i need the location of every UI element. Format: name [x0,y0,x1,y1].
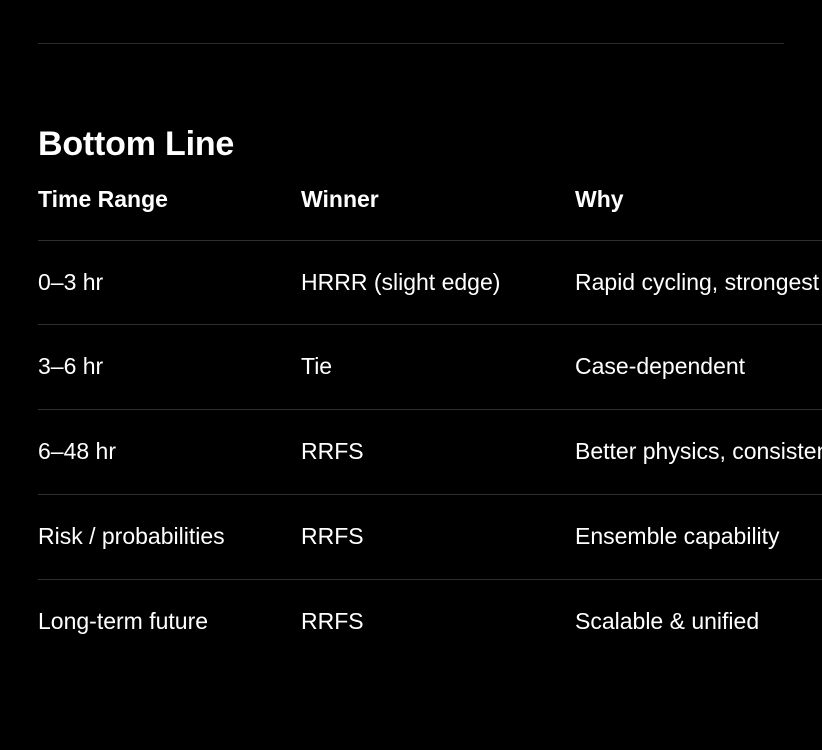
page-title: Bottom Line [38,126,234,163]
cell-winner: Tie [301,325,575,410]
column-header-why: Why [575,185,822,240]
table-row: Risk / probabilities RRFS Ensemble capab… [38,494,822,579]
cell-why: Case-dependent [575,325,822,410]
table-row: 6–48 hr RRFS Better physics, consistency [38,410,822,495]
table-body: 0–3 hr HRRR (slight edge) Rapid cycling,… [38,240,822,663]
cell-winner: HRRR (slight edge) [301,240,575,325]
table-row: 0–3 hr HRRR (slight edge) Rapid cycling,… [38,240,822,325]
cell-time-range: 0–3 hr [38,240,301,325]
table-header: Time Range Winner Why [38,185,822,240]
cell-time-range: Long-term future [38,579,301,663]
cell-why: Rapid cycling, strongest nowcasting [575,240,822,325]
table-header-row: Time Range Winner Why [38,185,822,240]
cell-winner: RRFS [301,410,575,495]
column-header-winner: Winner [301,185,575,240]
bottom-line-table: Time Range Winner Why 0–3 hr HRRR (sligh… [38,185,822,663]
cell-why: Better physics, consistency [575,410,822,495]
column-header-time-range: Time Range [38,185,301,240]
cell-time-range: Risk / probabilities [38,494,301,579]
table-row: 3–6 hr Tie Case-dependent [38,325,822,410]
bottom-line-table-container: Time Range Winner Why 0–3 hr HRRR (sligh… [38,185,822,663]
cell-winner: RRFS [301,579,575,663]
page-root: Bottom Line Time Range Winner Why 0–3 hr… [0,0,822,750]
section-top-divider [38,43,784,44]
cell-winner: RRFS [301,494,575,579]
cell-why: Scalable & unified [575,579,822,663]
cell-time-range: 6–48 hr [38,410,301,495]
cell-why: Ensemble capability [575,494,822,579]
table-row: Long-term future RRFS Scalable & unified [38,579,822,663]
cell-time-range: 3–6 hr [38,325,301,410]
